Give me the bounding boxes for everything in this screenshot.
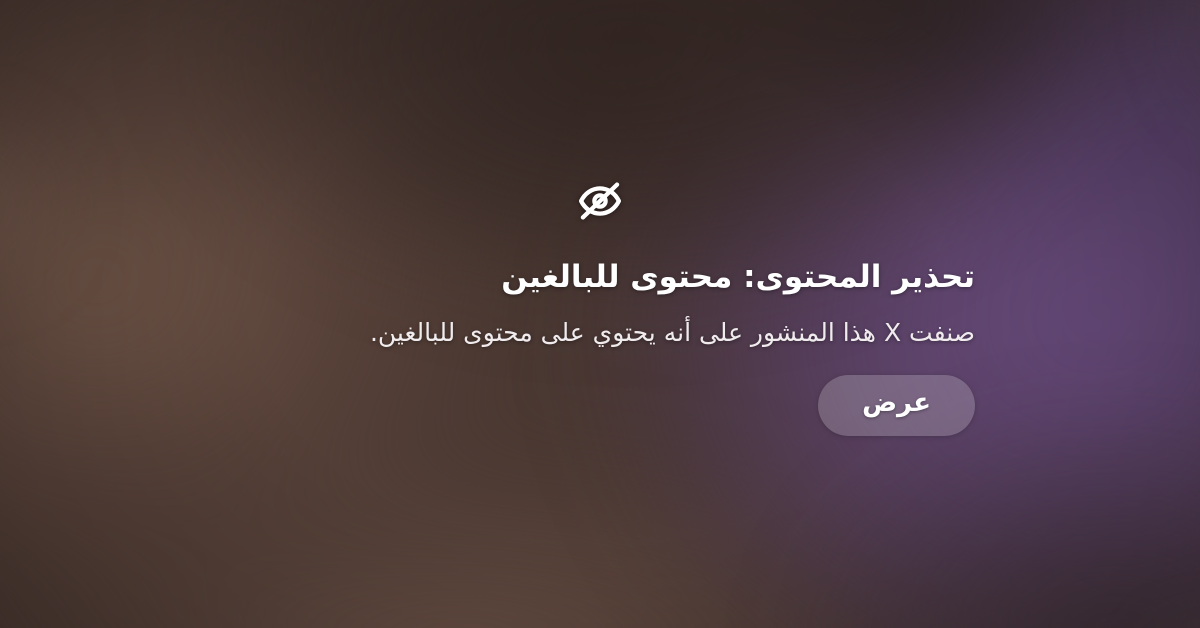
action-row: عرض (225, 375, 975, 436)
warning-overlay-panel: تحذير المحتوى: محتوى للبالغين صنفت X هذا… (0, 0, 1200, 628)
eye-off-icon (573, 174, 627, 228)
warning-text-block: تحذير المحتوى: محتوى للبالغين صنفت X هذا… (220, 258, 980, 436)
warning-description: صنفت X هذا المنشور على أنه يحتوي على محت… (225, 315, 975, 351)
content-warning-overlay-screen: تحذير المحتوى: محتوى للبالغين صنفت X هذا… (0, 0, 1200, 628)
warning-content: تحذير المحتوى: محتوى للبالغين صنفت X هذا… (220, 174, 980, 436)
page-title: تحذير المحتوى: محتوى للبالغين (225, 258, 975, 297)
view-content-button[interactable]: عرض (818, 375, 975, 436)
